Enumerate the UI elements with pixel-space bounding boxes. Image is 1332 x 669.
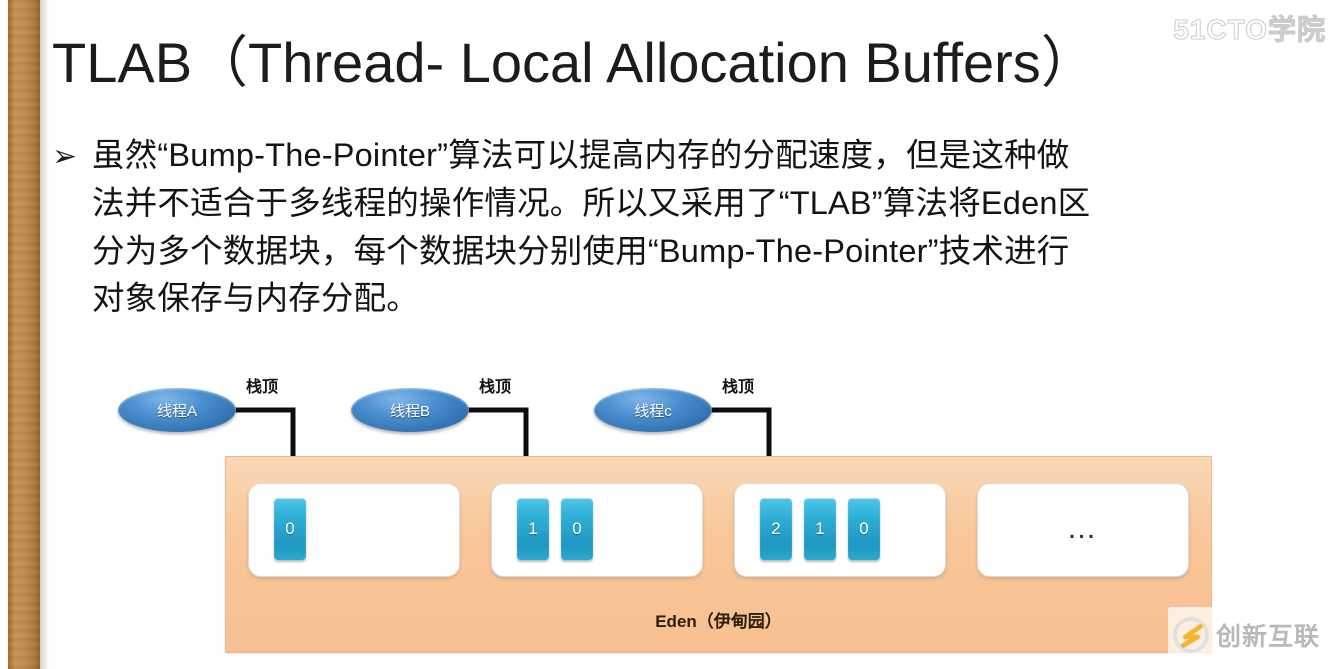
- bullet-line-3: 分为多个数据块，每个数据块分别使用“Bump-The-Pointer”技术进行: [92, 228, 1308, 276]
- tlab-diagram: 线程A 线程B 线程c 栈顶 栈顶 栈顶 0 1 0 2 1 0 … Eden（…: [0, 360, 1332, 669]
- thread-node-c-label: 线程c: [634, 400, 672, 421]
- bullet-line-4: 对象保存与内存分配。: [92, 275, 1308, 323]
- bullet-paragraph: ➢ 虽然“Bump-The-Pointer”算法可以提高内存的分配速度，但是这种…: [52, 132, 1308, 323]
- tlab-block-4[interactable]: …: [977, 483, 1189, 577]
- thread-node-c[interactable]: 线程c: [594, 388, 712, 432]
- watermark-text: 创新互联: [1216, 617, 1320, 653]
- thread-node-b-label: 线程B: [390, 400, 430, 421]
- object-cell: 0: [561, 498, 593, 560]
- bullet-text: 虽然“Bump-The-Pointer”算法可以提高内存的分配速度，但是这种做 …: [92, 132, 1308, 323]
- thread-node-b[interactable]: 线程B: [351, 388, 469, 432]
- stack-top-label-a: 栈顶: [246, 373, 278, 397]
- ellipsis-indicator: …: [978, 514, 1188, 544]
- bullet-line-1: 虽然“Bump-The-Pointer”算法可以提高内存的分配速度，但是这种做: [92, 132, 1308, 180]
- bullet-line-2: 法并不适合于多线程的操作情况。所以又采用了“TLAB”算法将Eden区: [92, 180, 1308, 228]
- tlab-block-2[interactable]: 1 0: [491, 483, 703, 577]
- stack-top-label-b: 栈顶: [479, 373, 511, 397]
- watermark-51cto: 51CTO学院: [1173, 8, 1326, 48]
- object-cell: 0: [274, 498, 306, 560]
- object-cell: 1: [517, 498, 549, 560]
- tlab-block-1[interactable]: 0: [248, 483, 460, 577]
- eden-region: 0 1 0 2 1 0 … Eden（伊甸园）: [225, 456, 1212, 653]
- tlab-block-3[interactable]: 2 1 0: [734, 483, 946, 577]
- eden-caption: Eden（伊甸园）: [226, 607, 1211, 632]
- watermark-chuangxin-hulian: 创新互联: [1168, 607, 1328, 663]
- object-cell: 1: [804, 498, 836, 560]
- page-title: TLAB（Thread- Local Allocation Buffers）: [52, 18, 1172, 99]
- stack-top-label-c: 栈顶: [722, 373, 754, 397]
- bullet-arrow-icon: ➢: [52, 132, 92, 172]
- thread-node-a-label: 线程A: [157, 400, 197, 421]
- watermark-logo-icon: [1172, 616, 1210, 654]
- thread-node-a[interactable]: 线程A: [118, 388, 236, 432]
- object-cell: 2: [760, 498, 792, 560]
- object-cell: 0: [848, 498, 880, 560]
